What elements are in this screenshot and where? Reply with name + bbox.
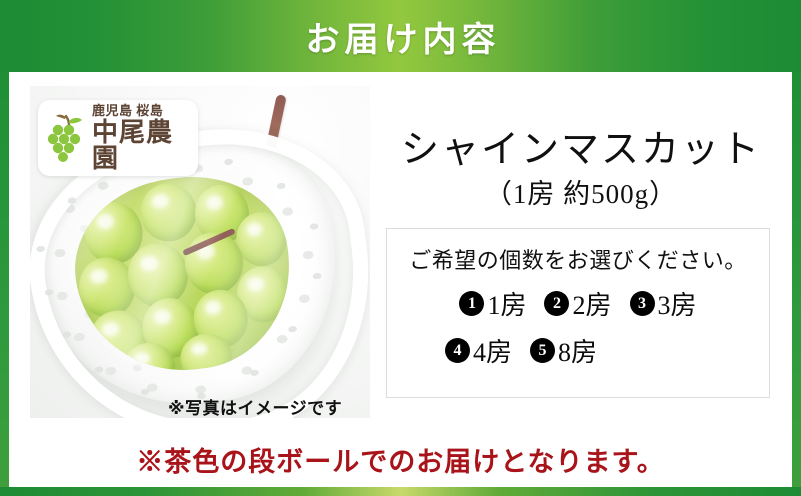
header-banner: お届け内容	[0, 0, 801, 72]
farm-logo-badge: 鹿児島 桜島 中尾農園	[38, 100, 198, 176]
quantity-option-1[interactable]: 1 1房	[459, 285, 526, 322]
photo-content: 鹿児島 桜島 中尾農園	[30, 86, 370, 418]
farm-name-label: 中尾農園	[92, 120, 190, 172]
quantity-option-5[interactable]: 5 8房	[530, 332, 597, 369]
quantity-option-2[interactable]: 2 2房	[544, 285, 611, 322]
option-label-2: 2房	[572, 285, 611, 322]
farm-region-label: 鹿児島 桜島	[92, 104, 190, 117]
quantity-options-row-2: 4 4房 5 8房	[387, 332, 769, 369]
quantity-option-4[interactable]: 4 4房	[445, 332, 512, 369]
option-label-5: 8房	[558, 332, 597, 369]
page-title: お届け内容	[301, 12, 501, 61]
option-bullet-2: 2	[544, 291, 569, 316]
photo-disclaimer-caption: ※写真はイメージです	[168, 394, 342, 419]
quantity-options-row-1: 1 1房 2 2房 3 3房	[387, 285, 769, 322]
product-name: シャインマスカット	[386, 118, 776, 173]
option-bullet-5: 5	[530, 338, 555, 363]
quantity-option-3[interactable]: 3 3房	[630, 285, 697, 322]
quantity-options-box: ご希望の個数をお選びください。 1 1房 2 2房 3 3房 4 4房 5 8房	[386, 228, 770, 398]
product-photo: 鹿児島 桜島 中尾農園	[30, 86, 370, 418]
option-label-1: 1房	[487, 285, 526, 322]
option-bullet-4: 4	[445, 338, 470, 363]
shipping-notice: ※茶色の段ボールでのお届けとなります。	[0, 440, 801, 479]
grape-cluster-icon	[46, 111, 90, 165]
frame-border-right	[792, 72, 801, 496]
quantity-prompt: ご希望の個数をお選びください。	[387, 243, 769, 275]
frame-border-bottom	[0, 487, 801, 496]
frame-border-left	[0, 72, 9, 496]
product-info-card: お届け内容	[0, 0, 801, 496]
option-label-4: 4房	[473, 332, 512, 369]
product-spec: （1房 約500g）	[386, 172, 776, 211]
option-bullet-1: 1	[459, 291, 484, 316]
farm-logo-text: 鹿児島 桜島 中尾農園	[92, 104, 190, 172]
option-label-3: 3房	[658, 285, 697, 322]
option-bullet-3: 3	[630, 291, 655, 316]
